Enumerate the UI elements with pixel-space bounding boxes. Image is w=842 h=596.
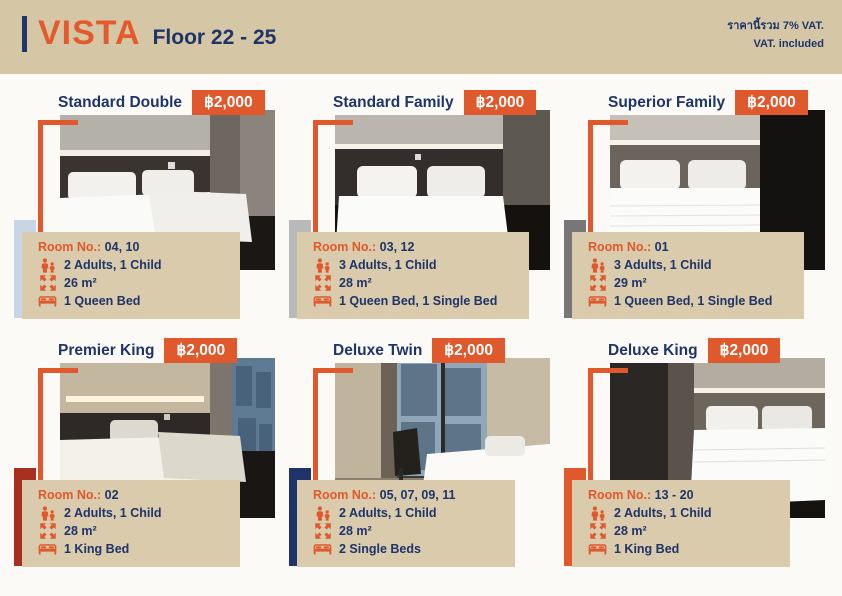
card-header: Standard Family฿2,000	[319, 90, 536, 115]
occupancy-spec: 2 Adults, 1 Child	[588, 505, 780, 521]
expand-arrows-icon	[313, 275, 332, 291]
area-value: 28 m²	[339, 276, 372, 290]
page-header: VISTA Floor 22 - 25 ราคานี้รวม 7% VAT. V…	[0, 0, 842, 74]
area-spec: 29 m²	[588, 275, 794, 291]
room-number-value: 04, 10	[105, 240, 140, 254]
expand-arrows-icon	[588, 275, 607, 291]
room-card[interactable]: Superior Family฿2,000Room No.: 01 3 Adul…	[564, 84, 839, 332]
room-type-title: Premier King	[44, 338, 164, 363]
occupancy-value: 2 Adults, 1 Child	[339, 506, 436, 520]
vat-notice: ราคานี้รวม 7% VAT. VAT. included	[727, 18, 824, 53]
adults-child-icon	[38, 505, 57, 521]
bed-icon	[313, 541, 332, 557]
occupancy-value: 3 Adults, 1 Child	[339, 258, 436, 272]
room-type-title: Superior Family	[594, 90, 735, 115]
room-number-label: Room No.:	[313, 488, 376, 502]
room-number-label: Room No.:	[588, 240, 651, 254]
room-price-badge: ฿2,000	[432, 338, 505, 363]
room-price-badge: ฿2,000	[708, 338, 781, 363]
room-number-line: Room No.: 05, 07, 09, 11	[313, 488, 505, 502]
room-price-badge: ฿2,000	[735, 90, 808, 115]
card-header: Deluxe King฿2,000	[594, 338, 780, 363]
room-card[interactable]: Deluxe Twin฿2,000Room No.: 05, 07, 09, 1…	[289, 332, 564, 580]
room-price-badge: ฿2,000	[192, 90, 265, 115]
area-spec: 28 m²	[313, 275, 519, 291]
room-number-value: 05, 07, 09, 11	[380, 488, 456, 502]
area-value: 28 m²	[64, 524, 97, 538]
expand-arrows-icon	[588, 523, 607, 539]
occupancy-value: 3 Adults, 1 Child	[614, 258, 711, 272]
room-number-value: 03, 12	[380, 240, 415, 254]
area-spec: 26 m²	[38, 275, 230, 291]
room-number-value: 02	[105, 488, 119, 502]
room-info-panel: Room No.: 13 - 20 2 Adults, 1 Child 28 m…	[572, 480, 790, 567]
brand-name: VISTA	[38, 16, 141, 50]
room-info-panel: Room No.: 04, 10 2 Adults, 1 Child 26 m²…	[22, 232, 240, 319]
rate-card-page: VISTA Floor 22 - 25 ราคานี้รวม 7% VAT. V…	[0, 0, 842, 596]
room-number-label: Room No.:	[38, 488, 101, 502]
occupancy-spec: 3 Adults, 1 Child	[313, 257, 519, 273]
room-card-grid: Standard Double฿2,000Room No.: 04, 10 2 …	[0, 74, 842, 596]
bed-value: 1 King Bed	[614, 542, 679, 556]
room-info-panel: Room No.: 01 3 Adults, 1 Child 29 m² 1 Q…	[572, 232, 804, 319]
bed-spec: 1 Queen Bed, 1 Single Bed	[313, 293, 519, 309]
bed-icon	[588, 541, 607, 557]
occupancy-spec: 3 Adults, 1 Child	[588, 257, 794, 273]
room-number-line: Room No.: 13 - 20	[588, 488, 780, 502]
bed-spec: 1 King Bed	[588, 541, 780, 557]
card-header: Deluxe Twin฿2,000	[319, 338, 505, 363]
vat-notice-thai: ราคานี้รวม 7% VAT.	[727, 18, 824, 36]
card-header: Standard Double฿2,000	[44, 90, 265, 115]
room-number-label: Room No.:	[313, 240, 376, 254]
brand-accent-bar	[22, 16, 27, 52]
room-number-label: Room No.:	[38, 240, 101, 254]
card-header: Premier King฿2,000	[44, 338, 237, 363]
room-number-label: Room No.:	[588, 488, 651, 502]
adults-child-icon	[588, 505, 607, 521]
room-type-title: Standard Family	[319, 90, 464, 115]
area-spec: 28 m²	[588, 523, 780, 539]
room-card[interactable]: Standard Family฿2,000Room No.: 03, 12 3 …	[289, 84, 564, 332]
room-type-title: Deluxe King	[594, 338, 708, 363]
area-value: 28 m²	[614, 524, 647, 538]
room-card[interactable]: Premier King฿2,000Room No.: 02 2 Adults,…	[14, 332, 289, 580]
room-price-badge: ฿2,000	[464, 90, 537, 115]
adults-child-icon	[313, 505, 332, 521]
adults-child-icon	[313, 257, 332, 273]
bed-icon	[38, 293, 57, 309]
area-spec: 28 m²	[38, 523, 230, 539]
area-spec: 28 m²	[313, 523, 505, 539]
bed-icon	[38, 541, 57, 557]
bed-spec: 1 King Bed	[38, 541, 230, 557]
occupancy-spec: 2 Adults, 1 Child	[38, 505, 230, 521]
room-number-line: Room No.: 03, 12	[313, 240, 519, 254]
occupancy-spec: 2 Adults, 1 Child	[313, 505, 505, 521]
room-price-badge: ฿2,000	[164, 338, 237, 363]
bed-spec: 1 Queen Bed, 1 Single Bed	[588, 293, 794, 309]
area-value: 28 m²	[339, 524, 372, 538]
bed-value: 1 King Bed	[64, 542, 129, 556]
room-type-title: Deluxe Twin	[319, 338, 432, 363]
area-value: 26 m²	[64, 276, 97, 290]
occupancy-value: 2 Adults, 1 Child	[614, 506, 711, 520]
room-type-title: Standard Double	[44, 90, 192, 115]
room-info-panel: Room No.: 02 2 Adults, 1 Child 28 m² 1 K…	[22, 480, 240, 567]
bed-icon	[313, 293, 332, 309]
bed-spec: 1 Queen Bed	[38, 293, 230, 309]
bed-spec: 2 Single Beds	[313, 541, 505, 557]
bed-value: 1 Queen Bed, 1 Single Bed	[614, 294, 772, 308]
occupancy-value: 2 Adults, 1 Child	[64, 258, 161, 272]
room-card[interactable]: Deluxe King฿2,000Room No.: 13 - 20 2 Adu…	[564, 332, 839, 580]
room-card[interactable]: Standard Double฿2,000Room No.: 04, 10 2 …	[14, 84, 289, 332]
adults-child-icon	[38, 257, 57, 273]
occupancy-spec: 2 Adults, 1 Child	[38, 257, 230, 273]
expand-arrows-icon	[38, 275, 57, 291]
floor-range-label: Floor 22 - 25	[153, 27, 277, 48]
room-number-value: 13 - 20	[655, 488, 694, 502]
card-header: Superior Family฿2,000	[594, 90, 808, 115]
expand-arrows-icon	[38, 523, 57, 539]
room-number-value: 01	[655, 240, 669, 254]
room-info-panel: Room No.: 03, 12 3 Adults, 1 Child 28 m²…	[297, 232, 529, 319]
room-number-line: Room No.: 02	[38, 488, 230, 502]
bed-icon	[588, 293, 607, 309]
area-value: 29 m²	[614, 276, 647, 290]
bed-value: 1 Queen Bed, 1 Single Bed	[339, 294, 497, 308]
expand-arrows-icon	[313, 523, 332, 539]
vat-notice-english: VAT. included	[727, 36, 824, 54]
adults-child-icon	[588, 257, 607, 273]
bed-value: 2 Single Beds	[339, 542, 421, 556]
brand-lockup: VISTA Floor 22 - 25	[22, 16, 276, 52]
room-number-line: Room No.: 04, 10	[38, 240, 230, 254]
room-number-line: Room No.: 01	[588, 240, 794, 254]
bed-value: 1 Queen Bed	[64, 294, 140, 308]
room-info-panel: Room No.: 05, 07, 09, 11 2 Adults, 1 Chi…	[297, 480, 515, 567]
occupancy-value: 2 Adults, 1 Child	[64, 506, 161, 520]
